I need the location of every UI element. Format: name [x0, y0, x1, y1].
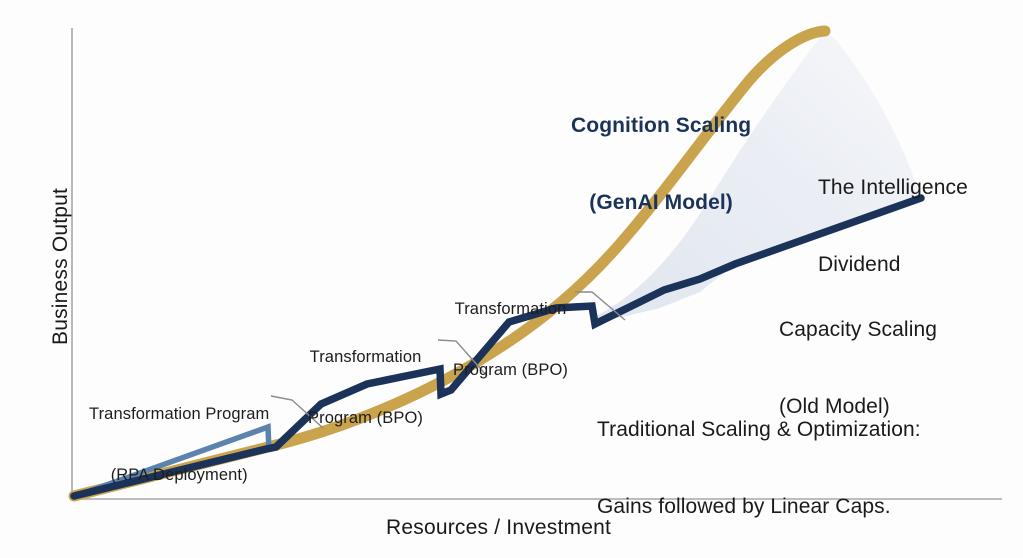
chart-canvas: Business Output Resources / Investment C…: [0, 0, 1023, 558]
annotation-bpo-second-line1: Transformation: [453, 299, 568, 319]
annotation-rpa-deployment-line2: (RPA Deployment): [89, 465, 269, 485]
annotation-bpo-first: Transformation Program (BPO): [308, 307, 423, 468]
annotation-rpa-deployment: Transformation Program (RPA Deployment): [89, 364, 269, 525]
annotation-bpo-second-line2: Program (BPO): [453, 360, 568, 380]
intelligence-dividend-label-line1: The Intelligence: [818, 175, 968, 201]
x-axis-label: Resources / Investment: [386, 515, 611, 541]
annotation-bpo-first-line1: Transformation: [308, 347, 423, 367]
annotation-bpo-first-line2: Program (BPO): [308, 408, 423, 428]
annotation-rpa-deployment-line1: Transformation Program: [89, 404, 269, 424]
annotation-bpo-second: Transformation Program (BPO): [453, 259, 568, 420]
capacity-scaling-label-line1: Capacity Scaling: [779, 317, 937, 343]
cognition-scaling-label-line1: Cognition Scaling: [571, 113, 751, 139]
traditional-scaling-caption-line2: Gains followed by Linear Caps.: [597, 494, 921, 520]
traditional-scaling-caption-line1: Traditional Scaling & Optimization:: [597, 417, 921, 443]
traditional-scaling-caption: Traditional Scaling & Optimization: Gain…: [597, 366, 921, 558]
cognition-scaling-label: Cognition Scaling (GenAI Model): [571, 62, 751, 267]
y-axis-label: Business Output: [48, 188, 74, 345]
cognition-scaling-label-line2: (GenAI Model): [571, 190, 751, 216]
